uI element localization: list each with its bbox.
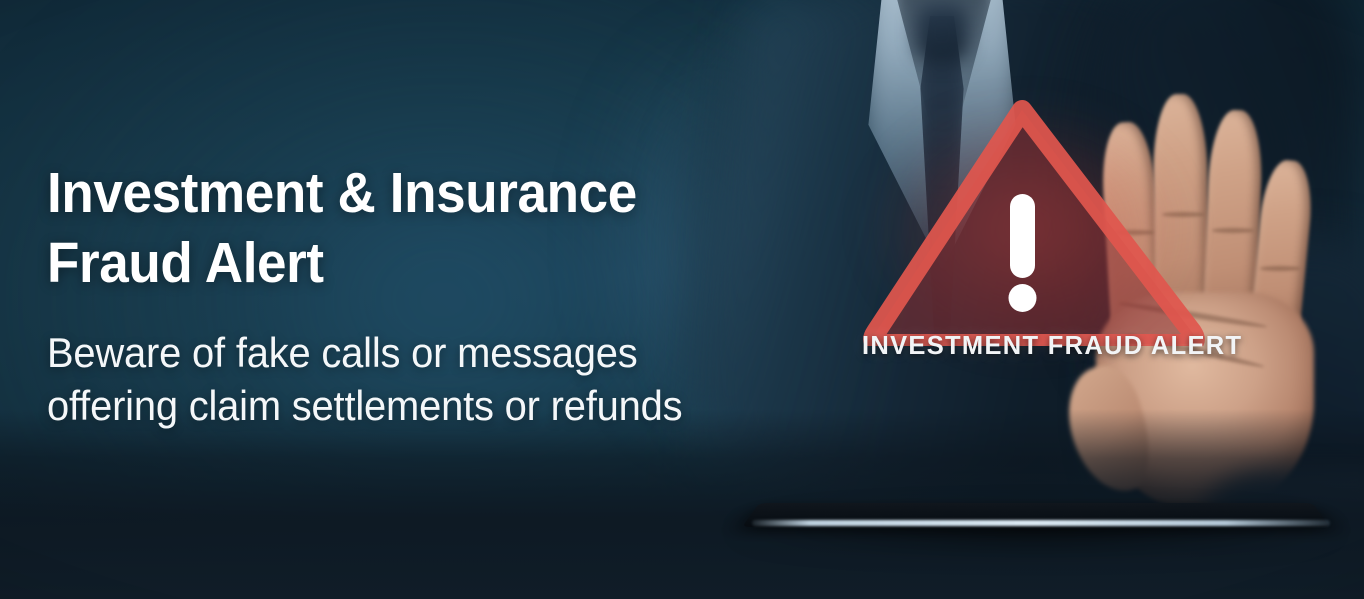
fraud-alert-overlay: INVESTMENT FRAUD ALERT bbox=[862, 96, 1206, 386]
warning-triangle-icon bbox=[862, 96, 1206, 346]
banner-copy: Investment & Insurance Fraud Alert Bewar… bbox=[47, 158, 787, 432]
tablet-edge-highlight bbox=[752, 520, 1330, 526]
necktie-knot bbox=[916, 4, 968, 62]
exclamation-dot bbox=[1009, 284, 1037, 312]
page-subtitle: Beware of fake calls or messages offerin… bbox=[47, 326, 750, 432]
page-title: Investment & Insurance Fraud Alert bbox=[47, 158, 735, 298]
fraud-alert-banner: INVESTMENT FRAUD ALERT Investment & Insu… bbox=[0, 0, 1364, 599]
exclamation-bar bbox=[1010, 194, 1035, 278]
hand-crease bbox=[1260, 266, 1300, 271]
hand-crease bbox=[1212, 228, 1254, 233]
overlay-alert-label: INVESTMENT FRAUD ALERT bbox=[862, 332, 1206, 361]
